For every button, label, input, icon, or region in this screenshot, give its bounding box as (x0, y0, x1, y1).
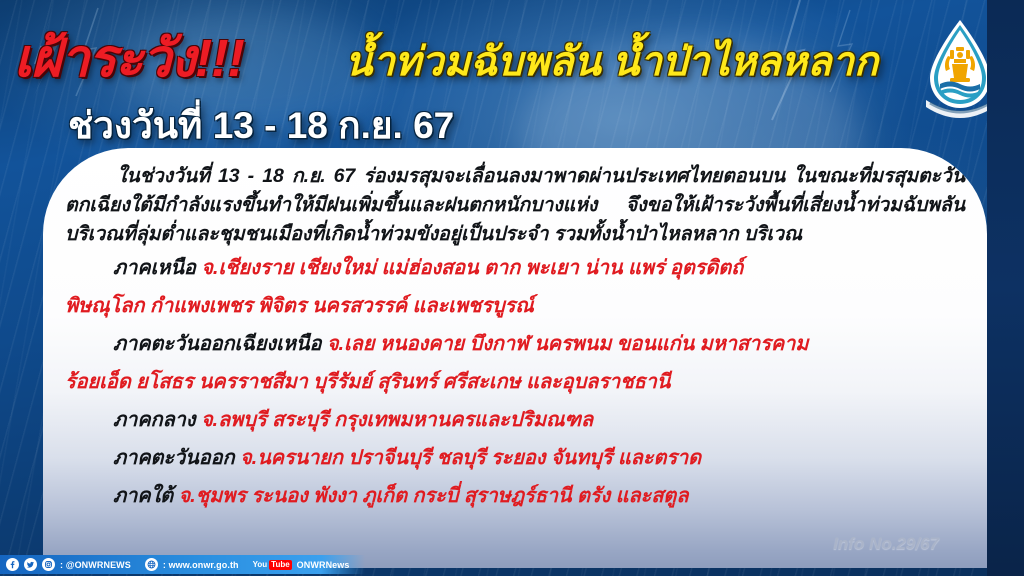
region-label-central: ภาคกลาง (113, 409, 195, 431)
region-line-northeast: ภาคตะวันออกเฉียงเหนือ จ.เลย หนองคาย บึงก… (65, 325, 965, 363)
region-label-north: ภาคเหนือ (113, 257, 196, 279)
region-line-northeast-cont: ร้อยเอ็ด ยโสธร นครราชสีมา บุรีรัมย์ สุริ… (65, 363, 965, 401)
youtube-channel-label: ONWRNews (297, 560, 350, 570)
region-provinces-central: จ.ลพบุรี สระบุรี กรุงเทพมหานครและปริมณฑล (201, 409, 593, 431)
region-line-central: ภาคกลาง จ.ลพบุรี สระบุรี กรุงเทพมหานครแล… (65, 401, 965, 439)
body-text-block: ในช่วงวันที่ 13 - 18 ก.ย. 67 ร่องมรสุมจะ… (43, 148, 987, 515)
region-provinces-northeast: จ.เลย หนองคาย บึงกาฬ นครพนม ขอนแก่น มหาส… (327, 333, 808, 355)
page-subtitle: น้ำท่วมฉับพลัน น้ำป่าไหลหลาก (345, 29, 878, 93)
youtube-icon[interactable]: You Tube (253, 560, 292, 570)
region-line-east: ภาคตะวันออก จ.นครนายก ปราจีนบุรี ชลบุรี … (65, 439, 965, 477)
region-line-north: ภาคเหนือ จ.เชียงราย เชียงใหม่ แม่ฮ่องสอน… (65, 249, 965, 287)
page-title-alert: เฝ้าระวัง!!! (14, 16, 244, 99)
youtube-tube-label: Tube (269, 560, 292, 570)
website-label: : www.onwr.go.th (163, 560, 239, 570)
date-range-label: ช่วงวันที่ 13 - 18 ก.ย. 67 (68, 96, 454, 155)
infographic-canvas: เฝ้าระวัง!!! น้ำท่วมฉับพลัน น้ำป่าไหลหลา… (0, 0, 1024, 576)
instagram-icon[interactable] (42, 558, 55, 571)
facebook-icon[interactable] (6, 558, 19, 571)
region-provinces-north: จ.เชียงราย เชียงใหม่ แม่ฮ่องสอน ตาก พะเย… (201, 257, 743, 279)
region-label-northeast: ภาคตะวันออกเฉียงเหนือ (113, 333, 321, 355)
youtube-you-label: You (253, 561, 268, 569)
intro-paragraph: ในช่วงวันที่ 13 - 18 ก.ย. 67 ร่องมรสุมจะ… (65, 162, 965, 249)
region-provinces-east: จ.นครนายก ปราจีนบุรี ชลบุรี ระยอง จันทบุ… (240, 447, 701, 469)
region-provinces-northeast-cont: ร้อยเอ็ด ยโสธร นครราชสีมา บุรีรัมย์ สุริ… (65, 371, 670, 393)
globe-icon[interactable] (145, 558, 158, 571)
region-line-north-cont: พิษณุโลก กำแพงเพชร พิจิตร นครสวรรค์ และเ… (65, 287, 965, 325)
region-provinces-south: จ.ชุมพร ระนอง พังงา ภูเก็ต กระบี่ สุราษฎ… (179, 485, 689, 507)
content-panel: ในช่วงวันที่ 13 - 18 ก.ย. 67 ร่องมรสุมจะ… (43, 148, 987, 568)
region-label-east: ภาคตะวันออก (113, 447, 235, 469)
social-handle-label: : @ONWRNEWS (60, 560, 131, 570)
right-edge-band (987, 0, 1024, 576)
header: เฝ้าระวัง!!! น้ำท่วมฉับพลัน น้ำป่าไหลหลา… (0, 0, 1024, 150)
region-provinces-north-cont: พิษณุโลก กำแพงเพชร พิจิตร นครสวรรค์ และเ… (65, 295, 534, 317)
region-line-south: ภาคใต้ จ.ชุมพร ระนอง พังงา ภูเก็ต กระบี่… (65, 477, 965, 515)
region-label-south: ภาคใต้ (113, 485, 173, 507)
twitter-icon[interactable] (24, 558, 37, 571)
footer-social-bar: : @ONWRNEWS : www.onwr.go.th You Tube ON… (0, 555, 365, 574)
info-number-label: Info No.29/67 (833, 534, 939, 554)
